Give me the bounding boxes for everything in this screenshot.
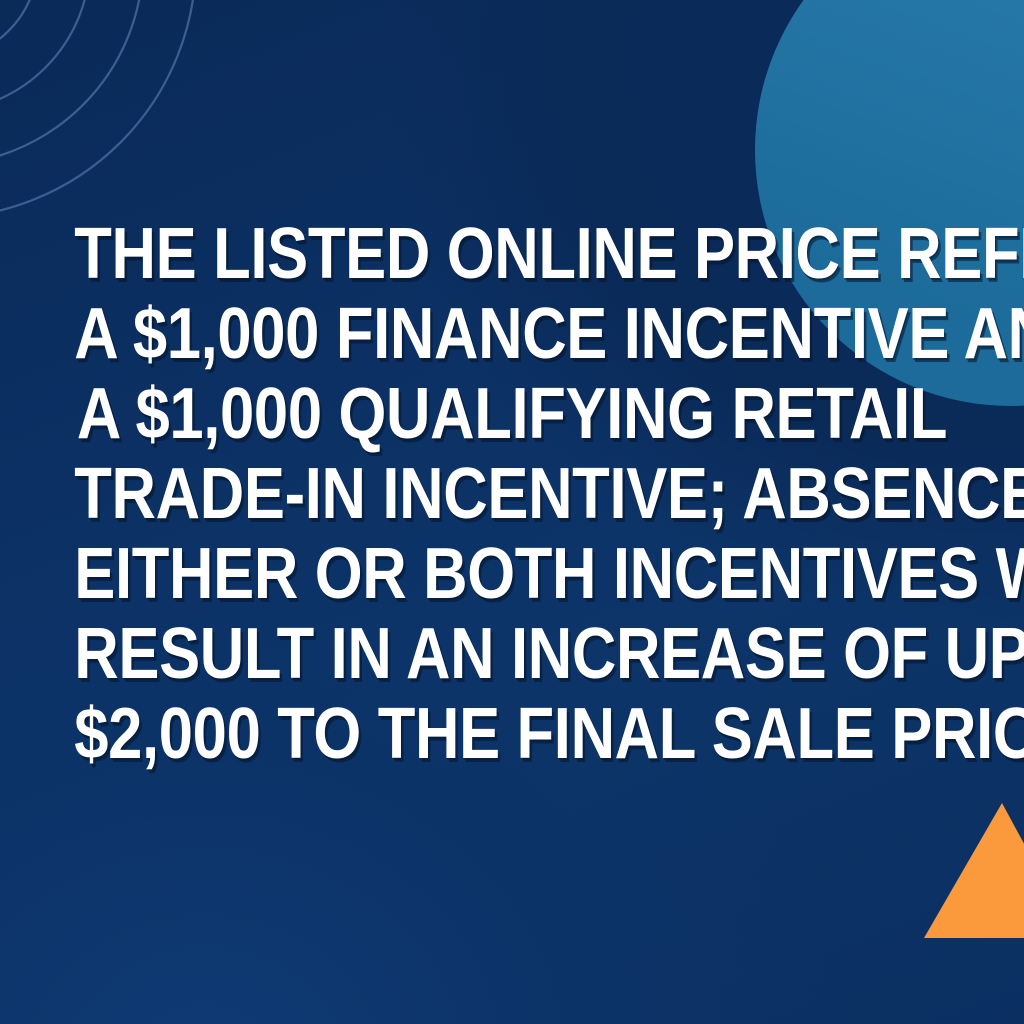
headline-line-4: TRADE-IN INCENTIVE; ABSENCE OF (74, 454, 950, 534)
headline-line-3: A $1,000 QUALIFYING RETAIL (74, 374, 950, 454)
headline-line-2: A $1,000 FINANCE INCENTIVE AND (74, 294, 950, 374)
headline-line-1: THE LISTED ONLINE PRICE REFLECTS (74, 214, 950, 294)
headline-line-6: RESULT IN AN INCREASE OF UP TO (74, 614, 950, 694)
headline-line-7: $2,000 TO THE FINAL SALE PRICE. (74, 694, 950, 774)
promo-disclaimer-canvas: THE LISTED ONLINE PRICE REFLECTS A $1,00… (0, 0, 1024, 1024)
headline-block: THE LISTED ONLINE PRICE REFLECTS A $1,00… (0, 214, 1024, 774)
headline-line-5: EITHER OR BOTH INCENTIVES WILL (74, 534, 950, 614)
